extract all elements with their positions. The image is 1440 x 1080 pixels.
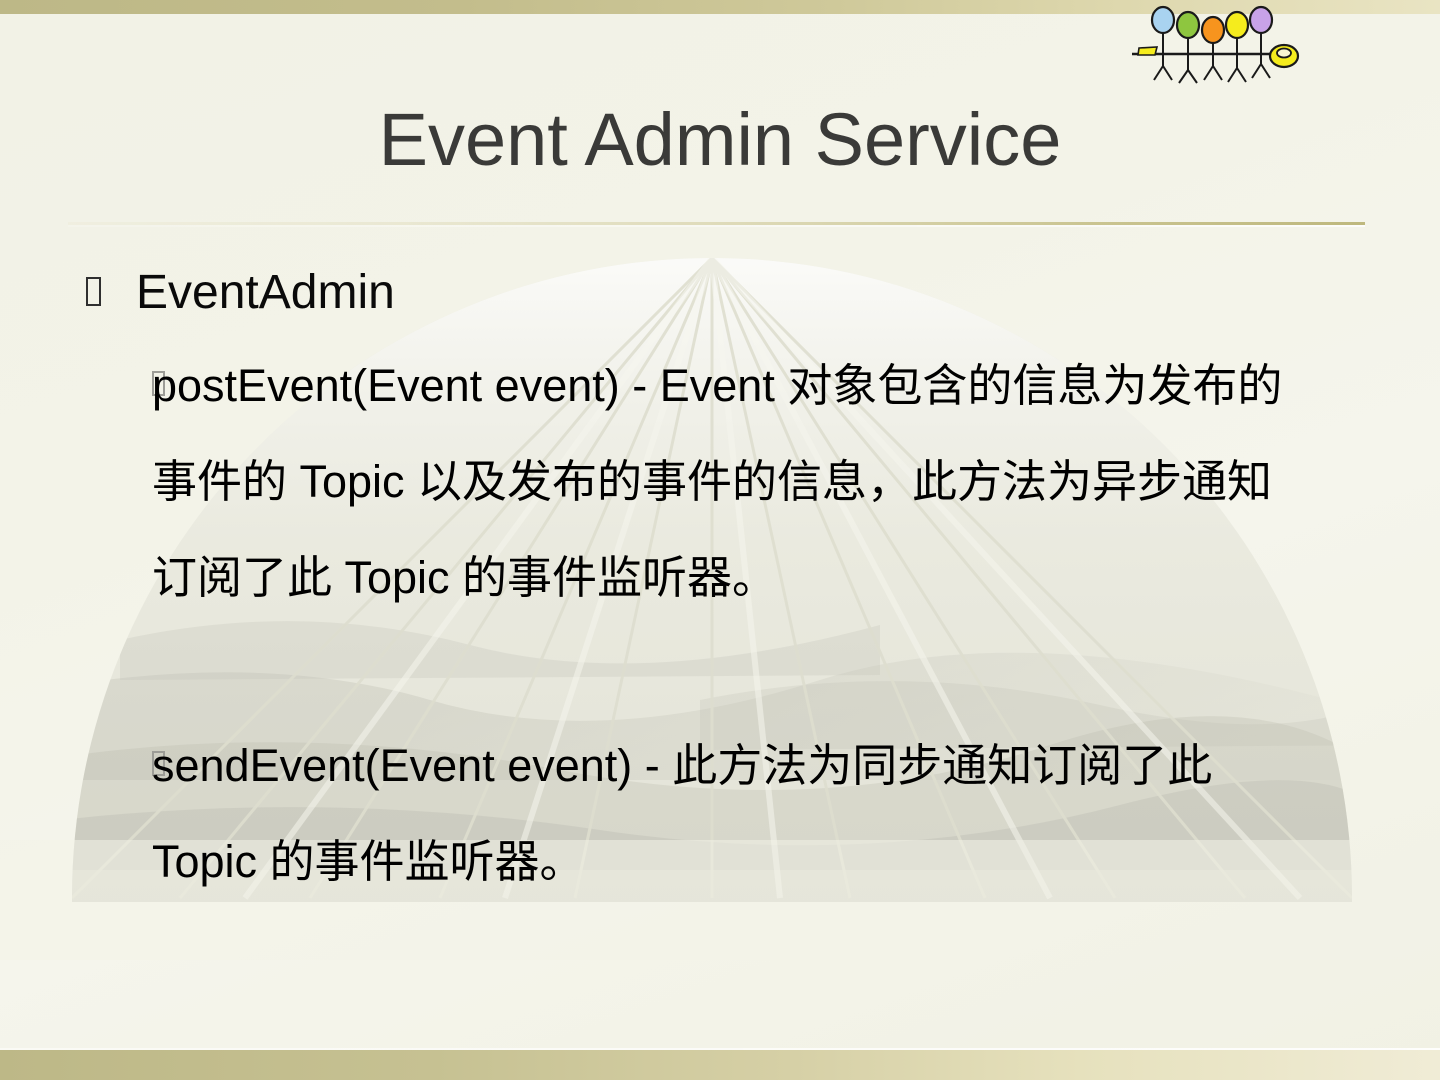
balloon-stick-figures-logo bbox=[1127, 4, 1302, 84]
bullet-spacer bbox=[80, 626, 1380, 718]
bullet-level1-label: EventAdmin bbox=[136, 262, 395, 324]
title-divider-highlight bbox=[68, 225, 1365, 227]
bullet-level2-postevent: postEvent(Event event) - Event 对象包含的信息为发… bbox=[80, 338, 1380, 626]
bullet-level1-eventadmin: EventAdmin bbox=[80, 262, 1380, 324]
bullet-marker-icon bbox=[80, 262, 136, 324]
slide-body: EventAdmin postEvent(Event event) - Even… bbox=[80, 262, 1380, 910]
page-title: Event Admin Service bbox=[0, 95, 1440, 185]
presentation-slide: Event Admin Service EventAdmin postEvent… bbox=[0, 0, 1440, 1080]
sub-bullet-marker-icon bbox=[80, 338, 152, 434]
bottom-accent-band bbox=[0, 1050, 1440, 1080]
bullet-level2-sendevent: sendEvent(Event event) - 此方法为同步通知订阅了此 To… bbox=[80, 718, 1380, 910]
sub-bullet-marker-icon bbox=[80, 718, 152, 814]
bullet-level2-label: postEvent(Event event) - Event 对象包含的信息为发… bbox=[152, 338, 1317, 626]
bullet-level2-label: sendEvent(Event event) - 此方法为同步通知订阅了此 To… bbox=[152, 718, 1317, 910]
